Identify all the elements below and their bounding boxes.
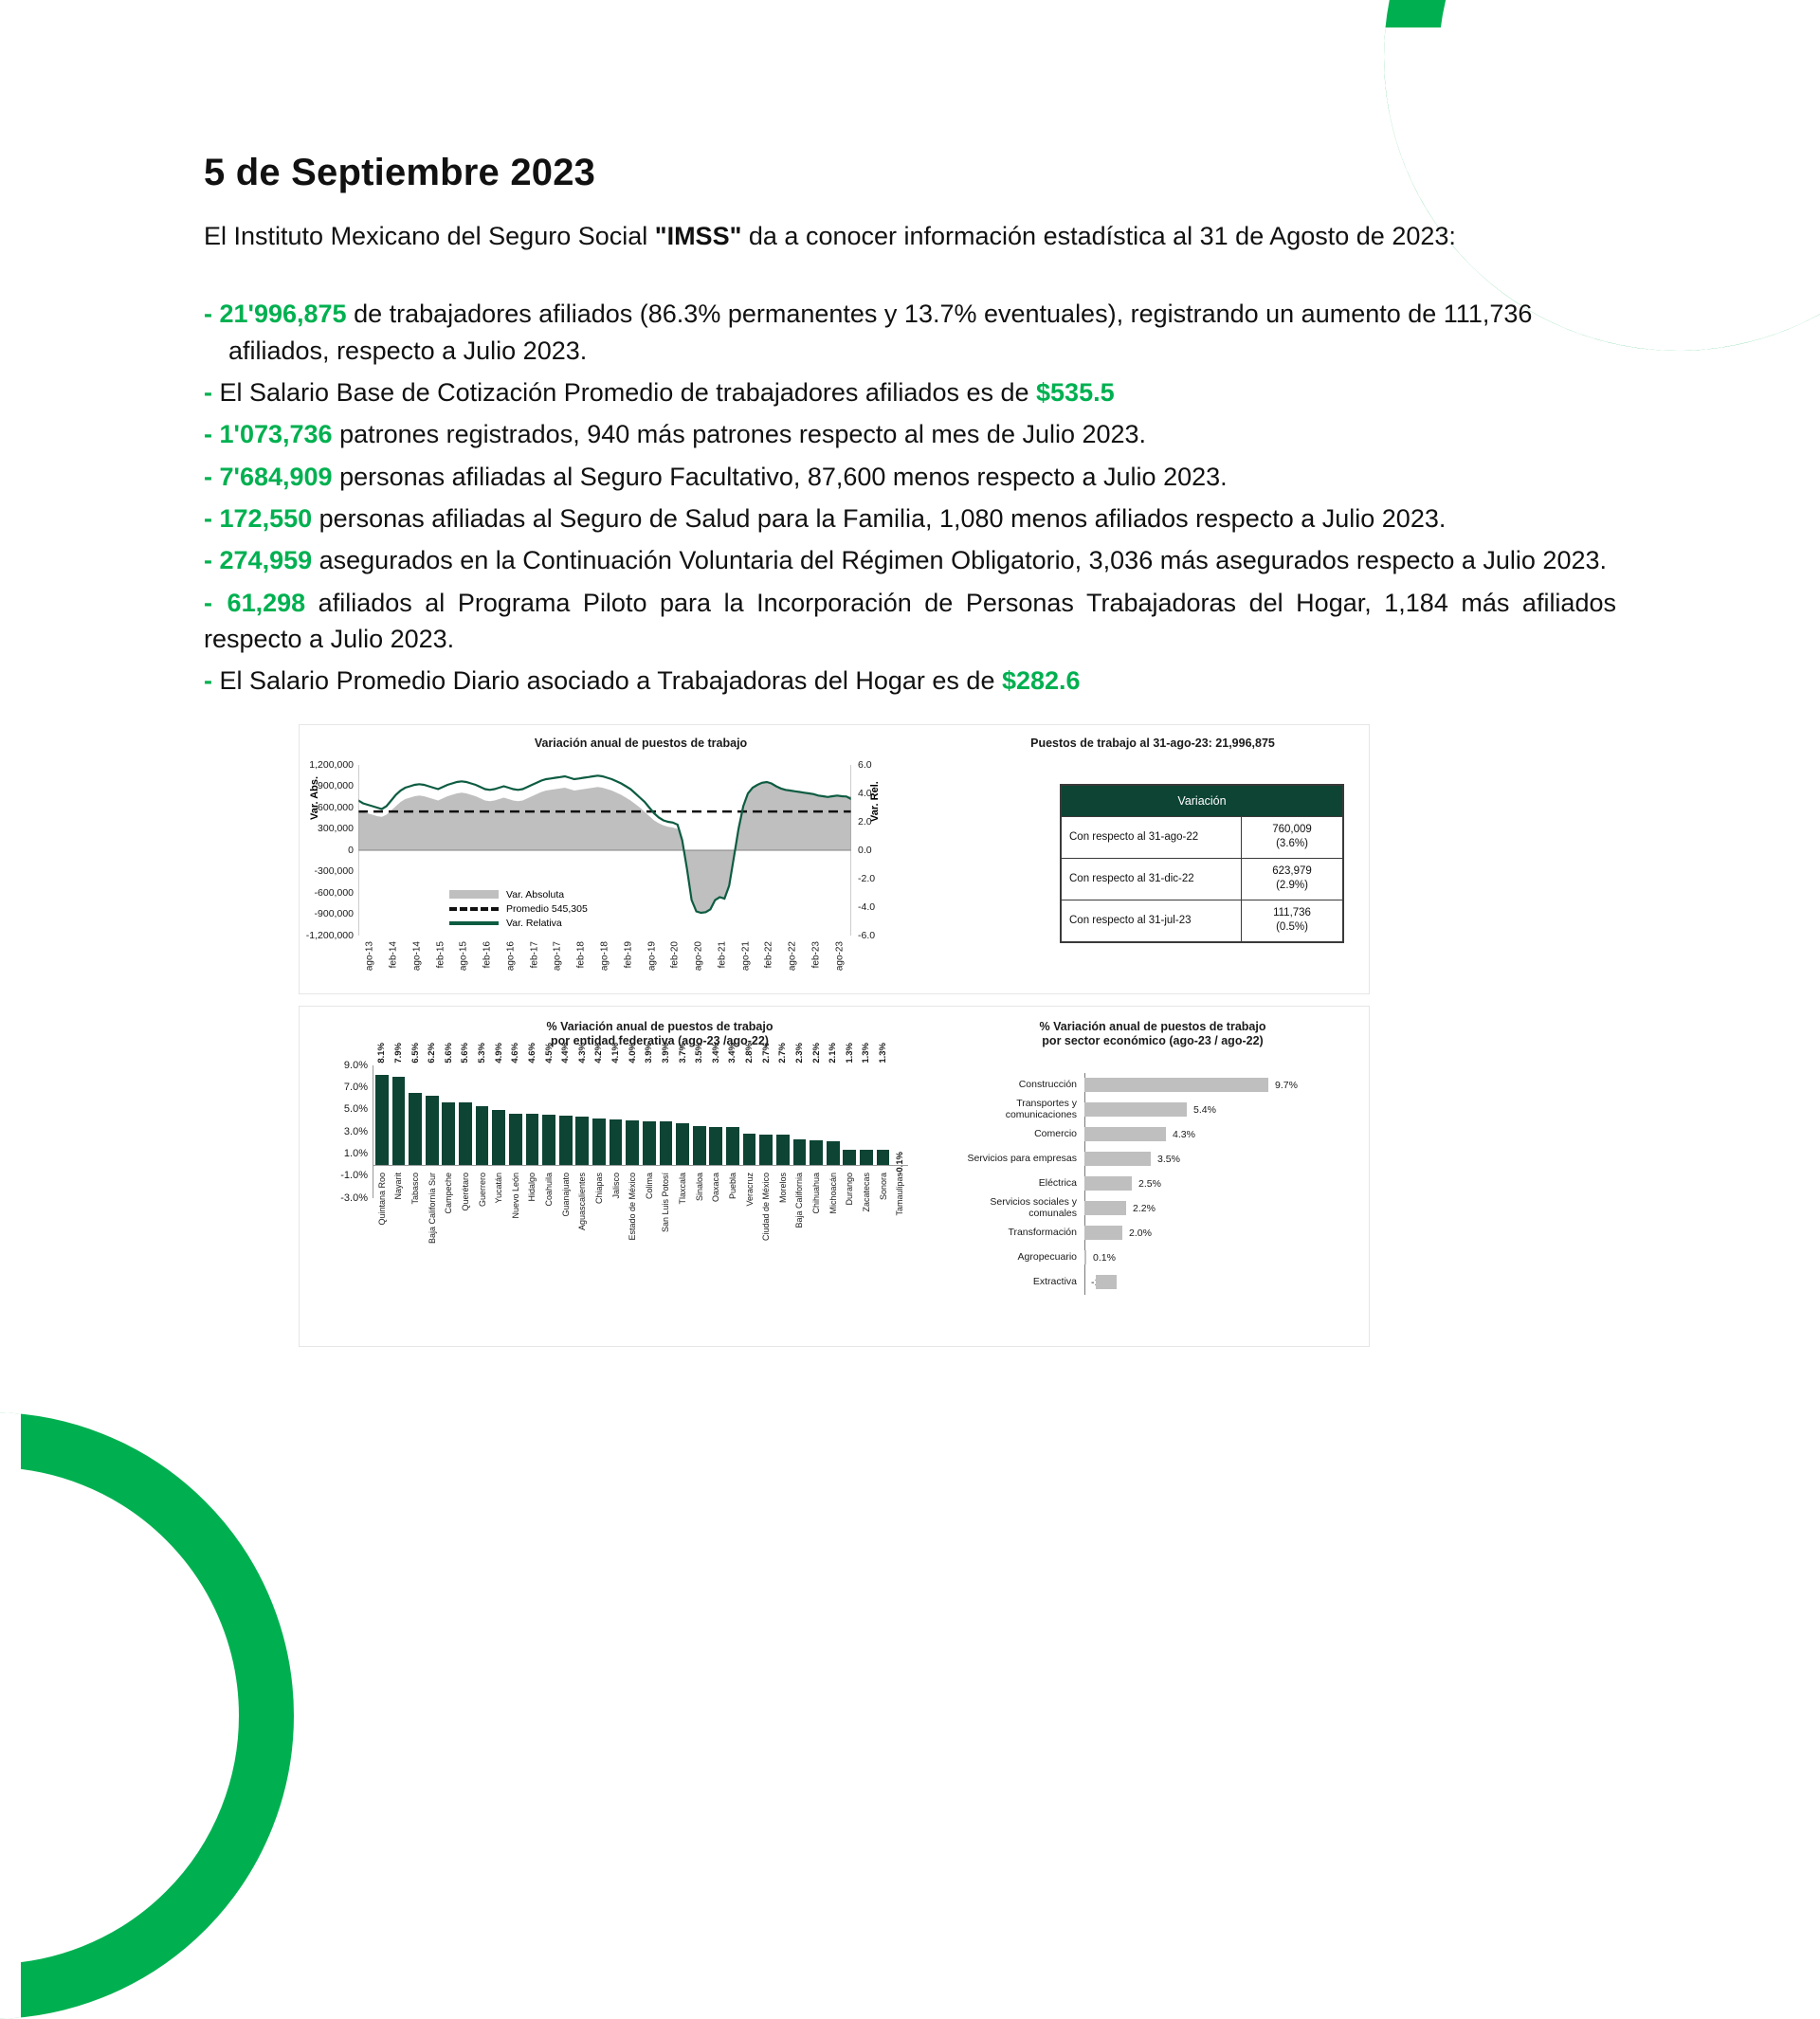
y-tick-label-secondary: -2.0 [858, 873, 875, 884]
bar-value-label: 4.4% [560, 1043, 571, 1064]
bar-category-label: Hidalgo [527, 1173, 537, 1202]
bar-item: 3.9%Colima [641, 1065, 658, 1198]
bar-category-label: Tamaulipas [895, 1173, 904, 1216]
sector-track: 2.2% [1084, 1196, 1342, 1221]
bar-category-label: Jalisco [611, 1173, 621, 1199]
bullet-dash: - [204, 300, 212, 328]
x-tick-label: ago-17 [553, 941, 563, 971]
y-tick-label-secondary: 2.0 [858, 816, 872, 828]
list-item: - 274,959 asegurados en la Continuación … [204, 542, 1616, 578]
bar-value-label: 5.6% [460, 1043, 470, 1064]
bar-item: 3.9%San Luis Potosí [658, 1065, 675, 1198]
bar-value-label: 2.2% [811, 1043, 822, 1064]
bar [743, 1134, 756, 1165]
bar [559, 1116, 573, 1164]
bar-item: 3.5%Sinaloa [691, 1065, 708, 1198]
legend-item-var-absoluta: Var. Absoluta [449, 889, 588, 900]
bar-category-label: Nayarit [393, 1173, 403, 1200]
chart-title-sector: % Variación anual de puestos de trabajo … [963, 1020, 1342, 1049]
chart-title-entidad-line1: % Variación anual de puestos de trabajo [547, 1020, 773, 1033]
table-cell-label: Con respecto al 31-ago-22 [1062, 816, 1242, 858]
x-tick-label: ago-15 [459, 941, 469, 971]
sector-row: Eléctrica2.5% [963, 1172, 1342, 1196]
table-cell-percent: (2.9%) [1249, 879, 1335, 894]
x-tick-label: feb-21 [717, 941, 727, 968]
table-cell-values: 111,736(0.5%) [1242, 900, 1343, 941]
bar-category-label: Guerrero [478, 1173, 487, 1207]
list-item: - 1'073,736 patrones registrados, 940 má… [204, 416, 1616, 452]
sector-track: 9.7% [1084, 1073, 1342, 1098]
fact-text: El Salario Promedio Diario asociado a Tr… [220, 666, 1002, 695]
table-cell-percent: (0.5%) [1249, 920, 1335, 936]
y-tick-label: 1,200,000 [309, 759, 354, 771]
lead-paragraph: El Instituto Mexicano del Seguro Social … [204, 219, 1616, 254]
bar-value-label: 6.5% [410, 1043, 421, 1064]
bar-item: 5.3%Guerrero [474, 1065, 491, 1198]
panel-variacion-detalle: % Variación anual de puestos de trabajo … [299, 1006, 1370, 1347]
chart-title-sector-line1: % Variación anual de puestos de trabajo [1040, 1020, 1266, 1033]
bullet-dash: - [204, 378, 212, 407]
fact-value: 61,298 [227, 589, 306, 617]
sector-label: Transformación [963, 1228, 1084, 1239]
legend-label: Var. Absoluta [506, 889, 564, 900]
x-tick-label: feb-23 [810, 941, 821, 968]
list-item: - El Salario Base de Cotización Promedio… [204, 374, 1616, 410]
sector-track: -1.1% [1084, 1270, 1342, 1295]
table-body: Con respecto al 31-ago-22760,009(3.6%)Co… [1062, 816, 1343, 941]
x-tick-label: ago-16 [505, 941, 516, 971]
sector-row: Extractiva-1.1% [963, 1270, 1342, 1295]
sector-label: Transportes ycomunicaciones [963, 1099, 1084, 1120]
sector-track: 2.0% [1084, 1221, 1342, 1246]
bar [660, 1121, 673, 1165]
bar [676, 1123, 689, 1164]
bar-category-label: Yucatán [494, 1173, 503, 1204]
chart-title-sector-line2: por sector económico (ago-23 / ago-22) [1042, 1034, 1263, 1047]
bar [592, 1119, 606, 1165]
bar-category-label: San Luis Potosí [661, 1173, 670, 1232]
bars-container-entidad: 8.1%Quintana Roo7.9%Nayarit6.5%Tabasco6.… [373, 1065, 908, 1198]
bar-item: 4.4%Guanajuato [557, 1065, 574, 1198]
bullet-dash: - [204, 666, 212, 695]
bullet-dash: - [204, 546, 212, 574]
list-item: - 7'684,909 personas afiliadas al Seguro… [204, 459, 1616, 495]
table-cell-percent: (3.6%) [1249, 837, 1335, 852]
x-tick-label: ago-14 [411, 941, 422, 971]
legend-swatch-area [449, 890, 499, 899]
bar-category-label: Baja California [794, 1173, 804, 1228]
bar [492, 1110, 505, 1164]
bar-category-label: Durango [845, 1173, 854, 1206]
line-area-chart: Var. Abs. Var. Rel. 1,200,000900,000600,… [358, 765, 851, 936]
bar-category-label: Estado de México [628, 1173, 637, 1241]
bar [526, 1114, 539, 1165]
sector-bar [1084, 1250, 1086, 1264]
table-cell-value: 111,736 [1249, 906, 1335, 921]
bar-item: 2.2%Chihuahua [808, 1065, 825, 1198]
fact-value: 274,959 [220, 546, 313, 574]
bar [877, 1150, 890, 1164]
sector-bar [1096, 1275, 1117, 1289]
decorative-arc-bottom-left [0, 1412, 294, 2019]
bar-value-label: 4.5% [544, 1043, 555, 1064]
bar [827, 1141, 840, 1165]
bar-category-label: Nuevo León [511, 1173, 520, 1219]
bar [476, 1106, 489, 1165]
bar-value-label: 5.3% [477, 1043, 487, 1064]
y-tick-label: -1,200,000 [306, 930, 354, 941]
bar-category-label: Campeche [444, 1173, 453, 1214]
bar [426, 1096, 439, 1164]
bar-category-label: Colima [645, 1173, 654, 1199]
fact-text: El Salario Base de Cotización Promedio d… [220, 378, 1037, 407]
x-tick-label: ago-18 [600, 941, 610, 971]
bullet-dash: - [204, 589, 212, 617]
sector-label: Agropecuario [963, 1252, 1084, 1264]
bar-category-label: Sinaloa [695, 1173, 704, 1201]
bar [726, 1127, 739, 1165]
table-cell-label: Con respecto al 31-dic-22 [1062, 858, 1242, 900]
bar [610, 1119, 623, 1165]
y-tick-label-secondary: 0.0 [858, 845, 872, 856]
table-cell-label: Con respecto al 31-jul-23 [1062, 900, 1242, 941]
list-item: - 61,298 afiliados al Programa Piloto pa… [204, 585, 1616, 658]
y-axis-entidad: 9.0%7.0%5.0%3.0%1.0%-1.0%-3.0% [330, 1065, 373, 1198]
sector-row: Servicios para empresas3.5% [963, 1147, 1342, 1172]
page-title: 5 de Septiembre 2023 [204, 152, 1616, 194]
y-tick-label-secondary: 6.0 [858, 759, 872, 771]
lead-text-part2: da a conocer información estadística al … [741, 222, 1456, 250]
bar-item: 4.1%Jalisco [608, 1065, 625, 1198]
list-item: - El Salario Promedio Diario asociado a … [204, 663, 1616, 699]
y-tick-label-secondary: 4.0 [858, 788, 872, 799]
bar-category-label: Ciudad de México [761, 1173, 771, 1241]
sector-track: 4.3% [1084, 1122, 1342, 1147]
y-tick-label: 7.0% [344, 1082, 368, 1093]
bar-value-label: 4.0% [628, 1043, 638, 1064]
bar [759, 1135, 773, 1165]
bar-chart-sector: Construcción9.7%Transportes ycomunicacio… [963, 1073, 1342, 1295]
y-tick-label: 300,000 [318, 823, 354, 834]
bar-value-label: 4.3% [577, 1043, 588, 1064]
y-tick-label: -3.0% [340, 1192, 368, 1204]
bullet-dash: - [204, 463, 212, 491]
zero-baseline [373, 1165, 908, 1166]
bar [392, 1077, 406, 1164]
bar-category-label: Chihuahua [811, 1173, 821, 1214]
y-tick-label: 5.0% [344, 1103, 368, 1115]
bar-value-label: 2.3% [794, 1043, 805, 1064]
lead-text-part1: El Instituto Mexicano del Seguro Social [204, 222, 655, 250]
bar-item: 2.1%Michoacán [825, 1065, 842, 1198]
y-tick-label: 600,000 [318, 802, 354, 813]
bar-item: 4.6%Hidalgo [524, 1065, 541, 1198]
y-tick-label: 900,000 [318, 780, 354, 791]
fact-value: 1'073,736 [220, 420, 333, 448]
bar [575, 1117, 589, 1164]
legend-swatch-line [449, 921, 499, 925]
line-area-plot [358, 765, 851, 936]
fact-text: afiliados al Programa Piloto para la Inc… [204, 589, 1616, 653]
fact-value: $282.6 [1002, 666, 1081, 695]
bar-item: -0.1%Tamaulipas [891, 1065, 908, 1198]
y-tick-label: -900,000 [315, 908, 354, 919]
fact-value: $535.5 [1036, 378, 1115, 407]
fact-value: 7'684,909 [220, 463, 333, 491]
bullet-dash: - [204, 420, 212, 448]
area-var-absoluta [358, 782, 851, 913]
legend-label: Var. Relativa [506, 918, 562, 929]
sector-bar [1084, 1078, 1268, 1092]
legend-swatch-dashed-line [449, 907, 499, 911]
x-tick-label: feb-16 [482, 941, 493, 968]
bar-value-label: 6.2% [427, 1043, 437, 1064]
bar-value-label: 3.5% [694, 1043, 704, 1064]
bar-category-label: Aguascalientes [577, 1173, 587, 1230]
legend-item-var-relativa: Var. Relativa [449, 918, 588, 929]
sector-bar [1084, 1102, 1187, 1117]
bar-value-label: 3.9% [644, 1043, 654, 1064]
sector-label: Servicios para empresas [963, 1154, 1084, 1165]
list-item: - 21'996,875 de trabajadores afiliados (… [204, 296, 1616, 369]
bar-item: 5.6%Querétaro [457, 1065, 474, 1198]
x-tick-label: feb-19 [623, 941, 633, 968]
bar [810, 1140, 823, 1165]
bar-category-label: Morelos [778, 1173, 788, 1203]
facts-list: - 21'996,875 de trabajadores afiliados (… [204, 296, 1616, 699]
y-tick-label: -600,000 [315, 887, 354, 899]
bar-item: 3.4%Puebla [724, 1065, 741, 1198]
bullet-dash: - [204, 504, 212, 533]
bar [843, 1150, 856, 1164]
chart-title-variacion-anual: Variación anual de puestos de trabajo [442, 737, 840, 752]
table-title-puestos: Puestos de trabajo al 31-ago-23: 21,996,… [963, 737, 1342, 752]
bar [442, 1102, 455, 1164]
sector-bar [1084, 1226, 1122, 1240]
bar-category-label: Tlaxcala [678, 1173, 687, 1205]
imss-abbreviation: "IMSS" [655, 222, 742, 250]
bar [860, 1150, 873, 1164]
bar-category-label: Veracruz [745, 1173, 755, 1207]
bar-item: 4.6%Nuevo León [507, 1065, 524, 1198]
bar [375, 1075, 389, 1165]
bar-value-label: 2.1% [828, 1043, 838, 1064]
sector-row: Construcción9.7% [963, 1073, 1342, 1098]
y-tick-label-secondary: -4.0 [858, 901, 875, 913]
bar-item: 2.3%Baja California [792, 1065, 809, 1198]
bar-value-label: 2.7% [777, 1043, 788, 1064]
x-tick-label: ago-19 [646, 941, 657, 971]
bar-category-label: Quintana Roo [377, 1173, 387, 1226]
bar-value-label: 1.3% [878, 1043, 888, 1064]
bar-item: 1.3%Durango [842, 1065, 859, 1198]
bar-category-label: Oaxaca [711, 1173, 720, 1202]
x-tick-label: ago-21 [740, 941, 751, 971]
sector-value-label: 3.5% [1157, 1154, 1180, 1165]
bar-category-label: Guanajuato [561, 1173, 571, 1217]
sector-track: 2.5% [1084, 1172, 1342, 1196]
bar [776, 1135, 790, 1165]
bar-item: 4.9%Yucatán [490, 1065, 507, 1198]
bar-value-label: 4.2% [593, 1043, 604, 1064]
x-tick-label: ago-22 [788, 941, 798, 971]
bar-category-label: Sonora [879, 1173, 888, 1200]
bar-category-label: Zacatecas [862, 1173, 871, 1212]
y-tick-label: 3.0% [344, 1126, 368, 1137]
sector-track: 5.4% [1084, 1098, 1342, 1122]
bar-item: 4.2%Chiapas [591, 1065, 608, 1198]
bar-value-label: 3.4% [711, 1043, 721, 1064]
bar-item: 6.5%Tabasco [407, 1065, 424, 1198]
sector-bar [1084, 1176, 1132, 1191]
page-content: 5 de Septiembre 2023 El Instituto Mexica… [0, 0, 1820, 1347]
bar-category-label: Coahuila [544, 1173, 554, 1207]
sector-row: Servicios sociales ycomunales2.2% [963, 1196, 1342, 1221]
sector-track: 0.1% [1084, 1246, 1342, 1270]
table-row: Con respecto al 31-dic-22623,979(2.9%) [1062, 858, 1343, 900]
table-cell-values: 760,009(3.6%) [1242, 816, 1343, 858]
bar-item: 4.0%Estado de México [624, 1065, 641, 1198]
bar-item: 1.3%Zacatecas [858, 1065, 875, 1198]
fact-text: patrones registrados, 940 más patrones r… [333, 420, 1147, 448]
x-tick-label: feb-18 [576, 941, 587, 968]
bar-category-label: Tabasco [410, 1173, 420, 1205]
sector-bar [1084, 1152, 1151, 1166]
bar-value-label: 2.7% [761, 1043, 772, 1064]
bar-value-label: 3.4% [727, 1043, 737, 1064]
bar-category-label: Michoacán [828, 1173, 838, 1214]
sector-value-label: 2.0% [1129, 1228, 1152, 1239]
bar [693, 1126, 706, 1165]
table-row: Con respecto al 31-ago-22760,009(3.6%) [1062, 816, 1343, 858]
x-tick-label: feb-20 [670, 941, 681, 968]
chart-legend: Var. Absoluta Promedio 545,305 Var. Rela… [449, 889, 588, 932]
bar-value-label: 1.3% [845, 1043, 855, 1064]
bar-value-label: 4.6% [510, 1043, 520, 1064]
bar-item: 4.3%Aguascalientes [574, 1065, 591, 1198]
bar-value-label: 3.7% [678, 1043, 688, 1064]
x-tick-label: feb-17 [529, 941, 539, 968]
x-tick-label: feb-22 [764, 941, 774, 968]
bar-category-label: Baja California Sur [428, 1173, 437, 1244]
fact-value: 21'996,875 [220, 300, 347, 328]
legend-item-promedio: Promedio 545,305 [449, 903, 588, 915]
table-row: Con respecto al 31-jul-23111,736(0.5%) [1062, 900, 1343, 941]
list-item: - 172,550 personas afiliadas al Seguro d… [204, 500, 1616, 537]
bar-value-label: 4.6% [527, 1043, 537, 1064]
bar-item: 3.7%Tlaxcala [674, 1065, 691, 1198]
x-tick-label: ago-23 [834, 941, 845, 971]
bar-item: 2.8%Veracruz [741, 1065, 758, 1198]
sector-value-label: 5.4% [1193, 1104, 1216, 1116]
legend-label: Promedio 545,305 [506, 903, 588, 915]
bar [409, 1093, 422, 1165]
sector-label: Eléctrica [963, 1178, 1084, 1190]
bar-category-label: Puebla [728, 1173, 737, 1199]
bar [626, 1120, 639, 1165]
bar-category-label: Chiapas [594, 1173, 604, 1204]
sector-rows: Construcción9.7%Transportes ycomunicacio… [963, 1073, 1342, 1295]
sector-row: Comercio4.3% [963, 1122, 1342, 1147]
y-tick-label-secondary: -6.0 [858, 930, 875, 941]
bar-value-label: 4.9% [494, 1043, 504, 1064]
table-cell-value: 760,009 [1249, 823, 1335, 838]
sector-row: Transportes ycomunicaciones5.4% [963, 1098, 1342, 1122]
y-tick-label: 1.0% [344, 1148, 368, 1159]
bar-item: 1.3%Sonora [875, 1065, 892, 1198]
bar-value-label: 1.3% [861, 1043, 871, 1064]
bar [509, 1114, 522, 1165]
sector-bar [1084, 1127, 1166, 1141]
bar-category-label: Querétaro [461, 1173, 470, 1211]
table-cell-values: 623,979(2.9%) [1242, 858, 1343, 900]
sector-track: 3.5% [1084, 1147, 1342, 1172]
sector-row: Transformación2.0% [963, 1221, 1342, 1246]
sector-bar [1084, 1201, 1126, 1215]
variacion-table: Variación Con respecto al 31-ago-22760,0… [1060, 784, 1344, 943]
bar-item: 5.6%Campeche [441, 1065, 458, 1198]
bar-item: 8.1%Quintana Roo [373, 1065, 391, 1198]
sector-label: Construcción [963, 1080, 1084, 1091]
y-tick-label: -1.0% [340, 1170, 368, 1181]
x-tick-label: ago-13 [365, 941, 375, 971]
bar-chart-entidad: 9.0%7.0%5.0%3.0%1.0%-1.0%-3.0% 8.1%Quint… [330, 1065, 908, 1198]
bar-value-label: 5.6% [444, 1043, 454, 1064]
bar-item: 6.2%Baja California Sur [424, 1065, 441, 1198]
panel-variacion-anual: Variación anual de puestos de trabajo Pu… [299, 724, 1370, 994]
y-tick-label: 9.0% [344, 1060, 368, 1071]
sector-value-label: 4.3% [1173, 1129, 1195, 1140]
fact-text: personas afiliadas al Seguro Facultativo… [333, 463, 1228, 491]
bar-item: 2.7%Morelos [774, 1065, 792, 1198]
y-tick-label: -300,000 [315, 865, 354, 877]
y-tick-label: 0 [348, 845, 354, 856]
table-cell-value: 623,979 [1249, 864, 1335, 880]
sector-value-label: 9.7% [1275, 1080, 1298, 1091]
table-header-variacion: Variación [1062, 785, 1343, 816]
sector-value-label: 2.5% [1138, 1178, 1161, 1190]
sector-value-label: 2.2% [1133, 1203, 1156, 1214]
fact-text: asegurados en la Continuación Voluntaria… [312, 546, 1607, 574]
fact-text: personas afiliadas al Seguro de Salud pa… [312, 504, 1446, 533]
bar-value-label: 4.1% [610, 1043, 621, 1064]
bar [709, 1127, 722, 1165]
bar [542, 1115, 555, 1165]
x-tick-label: feb-14 [389, 941, 399, 968]
bar [793, 1139, 807, 1165]
x-tick-label: ago-20 [694, 941, 704, 971]
figures-section: Variación anual de puestos de trabajo Pu… [204, 724, 1616, 1347]
sector-label: Servicios sociales ycomunales [963, 1197, 1084, 1219]
bar [459, 1102, 472, 1164]
bar-value-label: 7.9% [393, 1043, 404, 1064]
bar-value-label: 2.8% [744, 1043, 755, 1064]
sector-label: Comercio [963, 1129, 1084, 1140]
fact-text: de trabajadores afiliados (86.3% permane… [228, 300, 1532, 364]
bar-value-label: 3.9% [661, 1043, 671, 1064]
sector-value-label: 0.1% [1093, 1252, 1116, 1264]
bar [643, 1121, 656, 1165]
x-tick-label: feb-15 [435, 941, 446, 968]
sector-label: Extractiva [963, 1277, 1084, 1288]
bar-item: 2.7%Ciudad de México [757, 1065, 774, 1198]
bar-value-label: 8.1% [376, 1043, 387, 1064]
bar-item: 4.5%Coahuila [540, 1065, 557, 1198]
fact-value: 172,550 [220, 504, 313, 533]
sector-row: Agropecuario0.1% [963, 1246, 1342, 1270]
bar-item: 3.4%Oaxaca [708, 1065, 725, 1198]
bar-item: 7.9%Nayarit [391, 1065, 408, 1198]
